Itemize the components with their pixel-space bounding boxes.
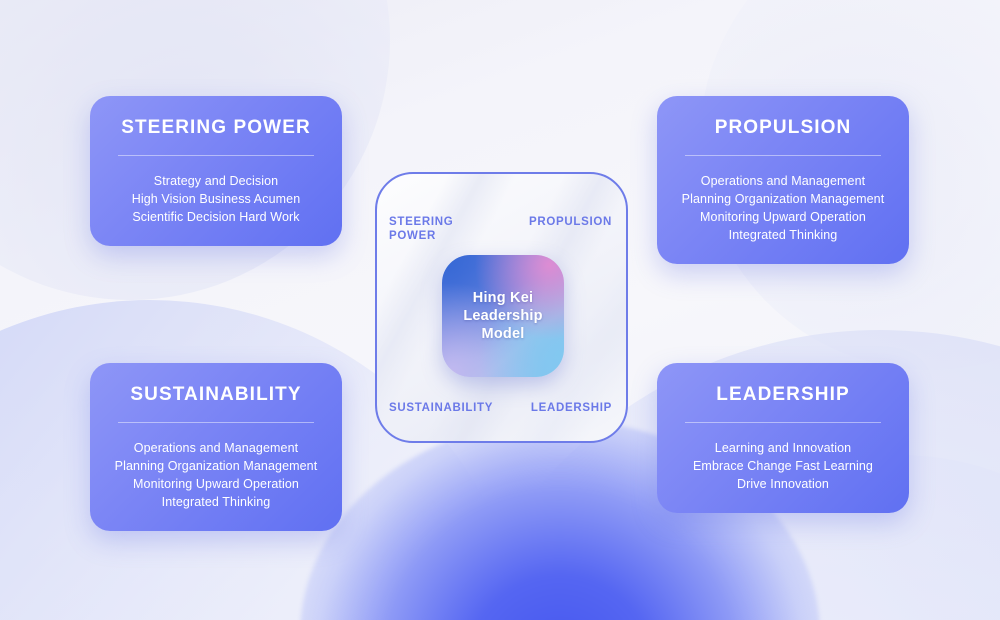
card-item: Planning Organization Management <box>673 190 893 208</box>
card-item: Drive Innovation <box>673 475 893 493</box>
center-tile-title-line: Hing Kei <box>463 289 542 307</box>
card-title: LEADERSHIP <box>673 385 893 406</box>
card-item-list: Operations and Management Planning Organ… <box>106 439 326 511</box>
card-item: Learning and Innovation <box>673 439 893 457</box>
card-item: Strategy and Decision <box>106 172 326 190</box>
corner-label-line: STEERING <box>389 215 453 229</box>
card-divider <box>685 422 881 423</box>
card-item: Integrated Thinking <box>673 226 893 244</box>
card-divider <box>118 155 314 156</box>
card-item: Operations and Management <box>106 439 326 457</box>
card-item: Integrated Thinking <box>106 493 326 511</box>
card-divider <box>118 422 314 423</box>
card-item-list: Learning and Innovation Embrace Change F… <box>673 439 893 493</box>
center-tile-title: Hing Kei Leadership Model <box>463 289 542 343</box>
corner-label-leadership: LEADERSHIP <box>531 401 612 415</box>
card-item-list: Strategy and Decision High Vision Busine… <box>106 172 326 226</box>
card-leadership[interactable]: LEADERSHIP Learning and Innovation Embra… <box>657 363 909 513</box>
center-gradient-tile: Hing Kei Leadership Model <box>442 255 564 377</box>
center-tile-title-line: Model <box>463 325 542 343</box>
corner-label-line: PROPULSION <box>529 215 612 229</box>
card-item: Embrace Change Fast Learning <box>673 457 893 475</box>
center-tile-title-line: Leadership <box>463 307 542 325</box>
card-title: STEERING POWER <box>106 118 326 139</box>
card-item: Monitoring Upward Operation <box>673 208 893 226</box>
corner-label-line: POWER <box>389 229 453 243</box>
card-item-list: Operations and Management Planning Organ… <box>673 172 893 244</box>
card-title: SUSTAINABILITY <box>106 385 326 406</box>
corner-label-sustainability: SUSTAINABILITY <box>389 401 493 415</box>
card-item: Monitoring Upward Operation <box>106 475 326 493</box>
corner-label-line: LEADERSHIP <box>531 401 612 415</box>
card-sustainability[interactable]: SUSTAINABILITY Operations and Management… <box>90 363 342 531</box>
card-steering-power[interactable]: STEERING POWER Strategy and Decision Hig… <box>90 96 342 246</box>
corner-label-line: SUSTAINABILITY <box>389 401 493 415</box>
center-model-panel: STEERING POWER PROPULSION SUSTAINABILITY… <box>375 172 628 443</box>
corner-label-steering-power: STEERING POWER <box>389 215 453 243</box>
card-item: Operations and Management <box>673 172 893 190</box>
corner-label-propulsion: PROPULSION <box>529 215 612 229</box>
card-title: PROPULSION <box>673 118 893 139</box>
card-item: Planning Organization Management <box>106 457 326 475</box>
card-item: High Vision Business Acumen <box>106 190 326 208</box>
card-divider <box>685 155 881 156</box>
card-propulsion[interactable]: PROPULSION Operations and Management Pla… <box>657 96 909 264</box>
card-item: Scientific Decision Hard Work <box>106 208 326 226</box>
